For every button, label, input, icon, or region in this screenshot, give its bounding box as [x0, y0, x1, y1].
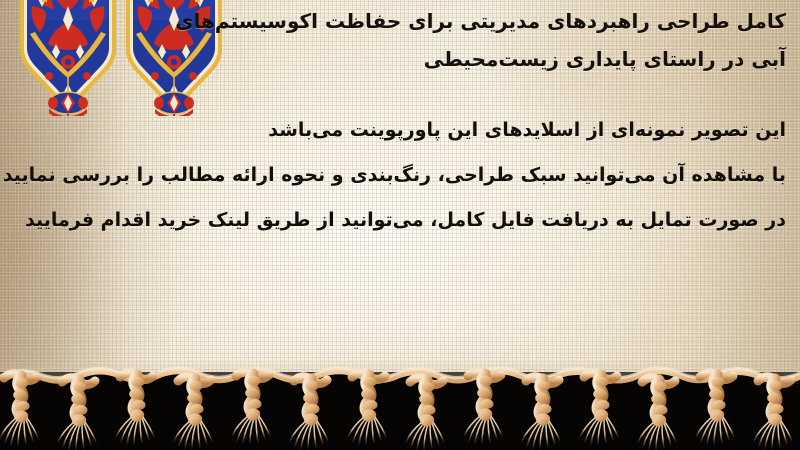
slide-title: کامل طراحی راهبردهای مدیریتی برای حفاظت …: [0, 2, 786, 78]
carpet-fringe: [0, 360, 800, 450]
title-line-2: آبی در راستای پایداری زیست‌محیطی: [0, 40, 786, 78]
body-line-1: این تصویر نمونه‌ای از اسلایدهای این پاور…: [0, 108, 786, 153]
slide-body: این تصویر نمونه‌ای از اسلایدهای این پاور…: [0, 108, 786, 243]
slide-canvas: کامل طراحی راهبردهای مدیریتی برای حفاظت …: [0, 0, 800, 450]
fringe-tassels-icon: [0, 360, 800, 450]
body-line-2: با مشاهده آن می‌توانید سبک طراحی، رنگ‌بن…: [0, 153, 786, 198]
body-line-3: در صورت تمایل به دریافت فایل کامل، می‌تو…: [0, 198, 786, 243]
title-line-1: کامل طراحی راهبردهای مدیریتی برای حفاظت …: [0, 2, 786, 40]
